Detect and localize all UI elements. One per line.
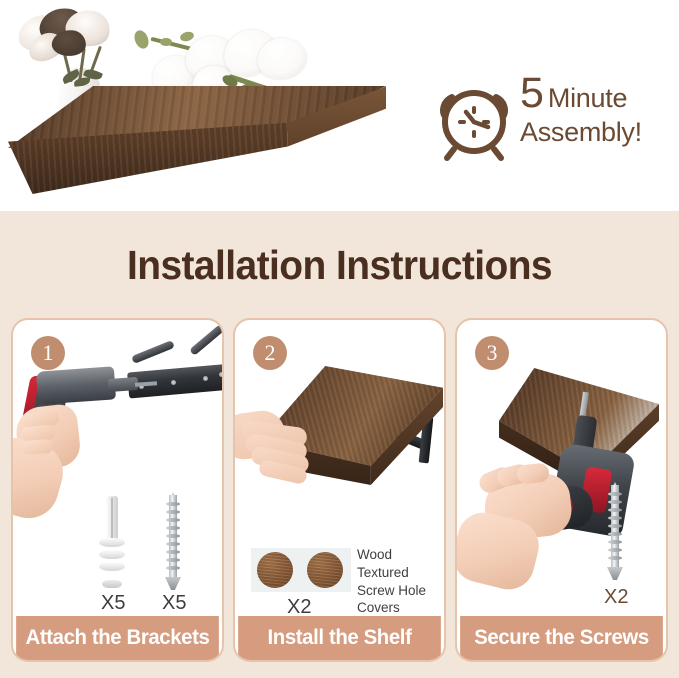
drill-body <box>36 366 116 404</box>
orchid-bud <box>132 28 151 50</box>
screw-hole-cover-icon <box>257 552 293 588</box>
badge-number: 5 <box>520 72 543 114</box>
bracket-screw-hole <box>203 376 208 381</box>
part-qty-covers: X2 <box>287 596 311 616</box>
step-1-footer-label: Attach the Brackets <box>16 616 219 660</box>
bracket-rod <box>131 340 175 364</box>
anchor-slit <box>111 498 113 538</box>
anchor-thread <box>99 562 125 571</box>
screw-icon <box>607 482 623 580</box>
badge-line2: Assembly! <box>520 118 670 146</box>
screw-head <box>165 577 181 590</box>
step-card-2: 2 <box>233 318 446 662</box>
step-number-badge-1: 1 <box>31 336 65 370</box>
step-2-footer-label: Install the Shelf <box>238 616 441 660</box>
anchor-thread <box>99 538 125 547</box>
alarm-clock-icon <box>432 78 516 162</box>
bracket-screw-hole <box>171 380 176 385</box>
step-card-1: 1 <box>11 318 224 662</box>
screw-hole-cover-icon <box>307 552 343 588</box>
step-1-illustration: 1 <box>13 320 222 616</box>
drill-chuck <box>108 377 139 392</box>
orchid-bud <box>179 30 195 43</box>
wall-anchor-icon <box>99 496 125 588</box>
badge-unit: Minute <box>548 85 627 112</box>
bracket-screw-hole <box>219 372 222 377</box>
screw-hole-covers-caption: Wood Textured Screw Hole Covers <box>357 546 444 616</box>
five-minute-assembly-badge: 5 Minute Assembly! <box>432 74 667 166</box>
page-title: Installation Instructions <box>17 242 662 289</box>
infographic-page: 5 Minute Assembly! Installation Instruct… <box>0 0 679 678</box>
step-3-illustration: 3 <box>457 320 666 616</box>
steps-container: 1 <box>11 318 668 658</box>
badge-text: 5 Minute Assembly! <box>520 72 670 146</box>
screw-icon <box>165 492 181 590</box>
screw-hole-covers-swatch <box>251 548 351 592</box>
anchor-head <box>102 580 122 588</box>
part-qty-screw: X5 <box>162 592 186 615</box>
anchor-thread <box>99 550 125 559</box>
bracket-rod <box>189 324 222 356</box>
finger <box>21 439 54 455</box>
instructions-section: Installation Instructions 1 <box>0 211 679 678</box>
screw-head <box>607 567 623 580</box>
part-qty-screw: X2 <box>604 586 628 609</box>
step-2-illustration: 2 <box>235 320 444 616</box>
part-qty-anchor: X5 <box>101 592 125 615</box>
step-3-footer-label: Secure the Screws <box>460 616 663 660</box>
step-card-3: 3 <box>455 318 668 662</box>
floating-shelf-product-image <box>8 86 386 194</box>
step-number-badge-2: 2 <box>253 336 287 370</box>
orchid-bud <box>160 38 172 46</box>
hero-section: 5 Minute Assembly! <box>0 0 679 211</box>
step-number-badge-3: 3 <box>475 336 509 370</box>
